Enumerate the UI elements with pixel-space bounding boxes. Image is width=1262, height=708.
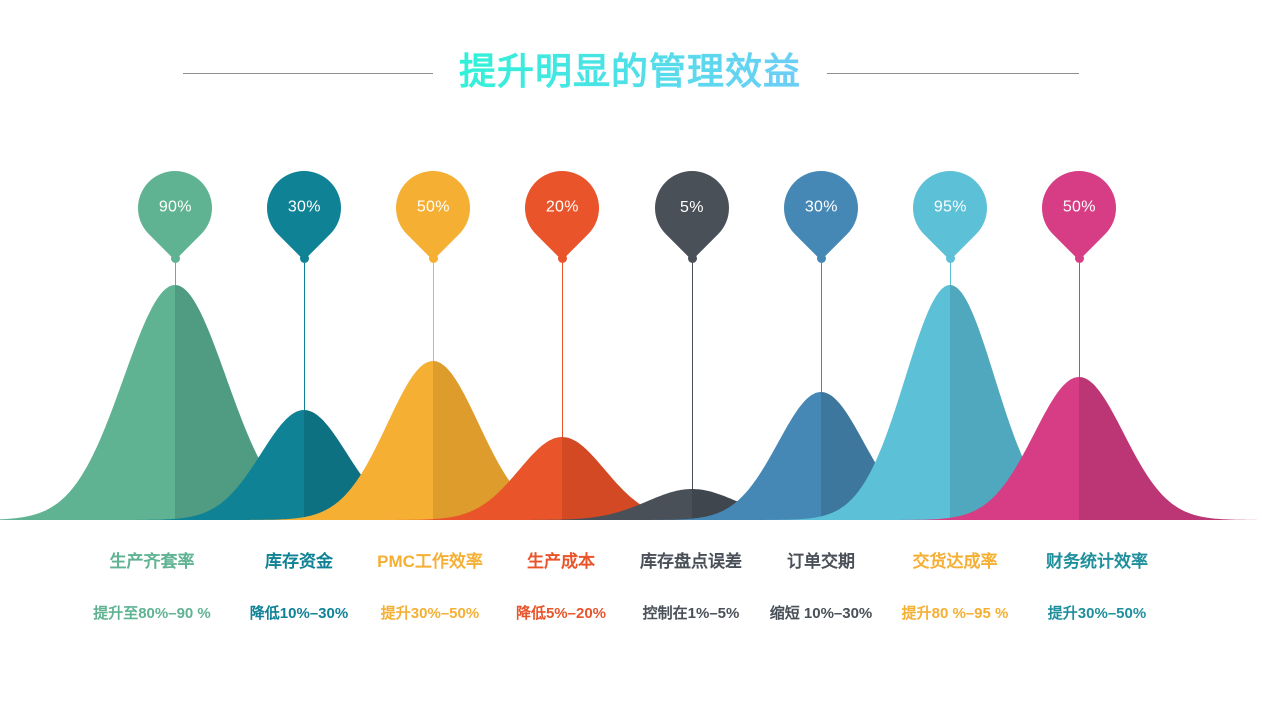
pin-anchor-dot-2 (300, 254, 309, 263)
metric-pin-value: 50% (417, 200, 450, 216)
pin-anchor-dot-3 (429, 254, 438, 263)
pin-stem-2 (304, 263, 305, 410)
pin-stem-1 (175, 263, 176, 285)
pin-anchor-dot-4 (558, 254, 567, 263)
pin-stem-4 (562, 263, 563, 437)
bell-curve-left-half (0, 285, 175, 520)
pin-anchor-dot-1 (171, 254, 180, 263)
metric-pin-value: 20% (546, 200, 579, 216)
bell-curve-right-half (1079, 377, 1262, 520)
category-label-8: 财务统计效率 (947, 553, 1247, 570)
curve-area-svg (0, 0, 1262, 708)
pin-stem-7 (950, 263, 951, 285)
curve-layer (0, 285, 1262, 520)
pin-stem-6 (821, 263, 822, 392)
pin-anchor-dot-8 (1075, 254, 1084, 263)
metric-pin-value: 30% (805, 200, 838, 216)
metric-pin-value: 30% (288, 200, 321, 216)
metric-pin-value: 90% (159, 200, 192, 216)
pin-stem-5 (692, 263, 693, 489)
metric-pin-value: 95% (934, 200, 967, 216)
metric-pin-value: 5% (680, 200, 704, 216)
pin-anchor-dot-5 (688, 254, 697, 263)
metric-pin-value: 50% (1063, 200, 1096, 216)
category-detail-8: 提升30%–50% (947, 606, 1247, 621)
pin-stem-3 (433, 263, 434, 361)
pin-stem-8 (1079, 263, 1080, 377)
pin-anchor-dot-6 (817, 254, 826, 263)
bell-curve-chart: 90%30%50%20%5%30%95%50% 生产齐套率提升至80%–90 %… (0, 0, 1262, 708)
pin-anchor-dot-7 (946, 254, 955, 263)
slide-canvas: 提升明显的管理效益 90%30%50%20%5%30%95%50% 生产齐套率提… (0, 0, 1262, 708)
